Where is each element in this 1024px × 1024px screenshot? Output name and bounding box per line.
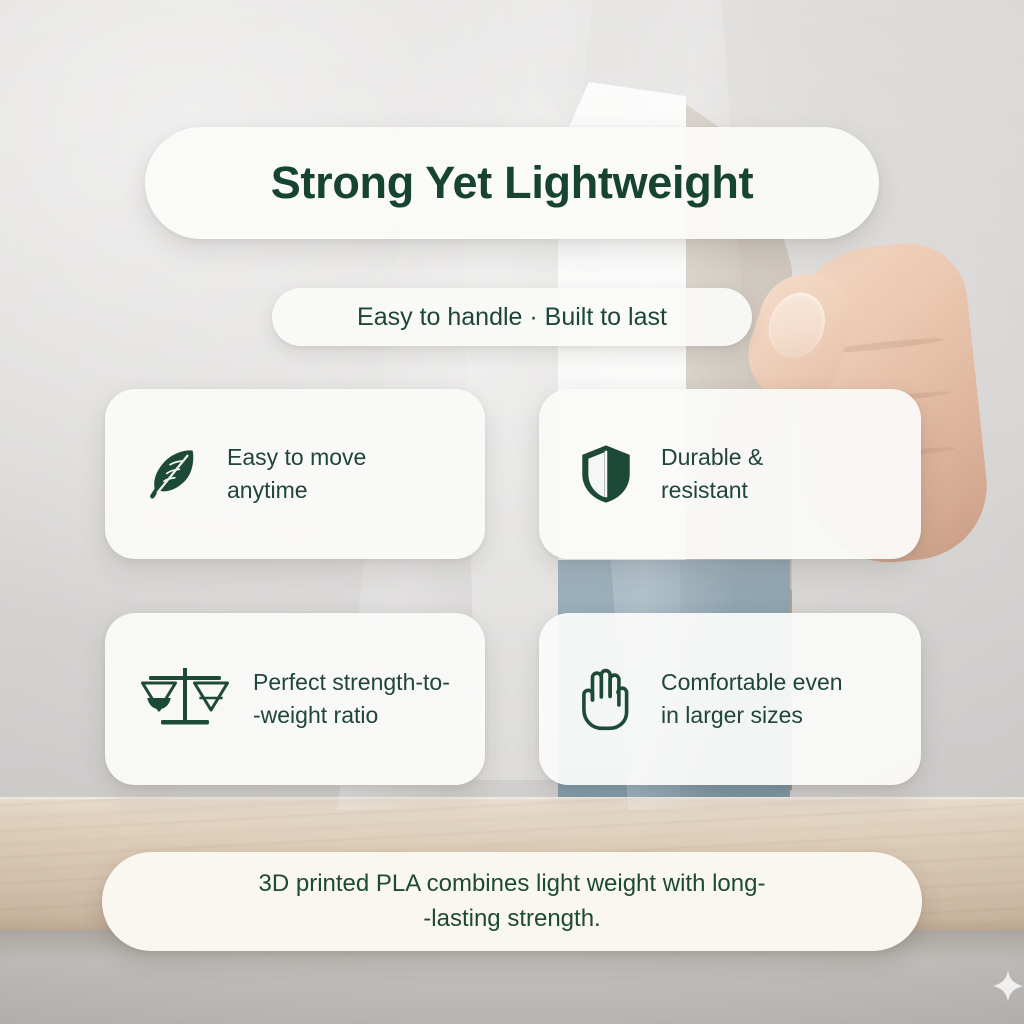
feature-card-easy-to-move[interactable]: Easy to move anytime xyxy=(105,389,485,559)
feature-label-line2: -weight ratio xyxy=(253,702,378,728)
shield-icon xyxy=(573,441,639,507)
feature-label: Easy to move anytime xyxy=(227,441,366,506)
feature-label-line1: Easy to move xyxy=(227,444,366,470)
feature-card-durable[interactable]: Durable & resistant xyxy=(539,389,921,559)
feature-label-line1: Perfect strength-to- xyxy=(253,669,450,695)
footer-pill: 3D printed PLA combines light weight wit… xyxy=(102,852,922,951)
balance-scale-icon xyxy=(139,666,231,732)
footer-line1: 3D printed PLA combines light weight wit… xyxy=(259,870,766,897)
page-subtitle: Easy to handle · Built to last xyxy=(357,303,667,332)
feature-label-line2: resistant xyxy=(661,477,748,503)
feature-label-line1: Comfortable even xyxy=(661,669,843,695)
subtitle-pill: Easy to handle · Built to last xyxy=(272,288,752,346)
title-pill: Strong Yet Lightweight xyxy=(145,127,879,239)
hand-icon xyxy=(573,666,639,732)
footer-description: 3D printed PLA combines light weight wit… xyxy=(259,867,766,935)
feature-label: Perfect strength-to- -weight ratio xyxy=(253,666,450,731)
feature-label-line2: in larger sizes xyxy=(661,702,803,728)
feature-card-comfortable[interactable]: Comfortable even in larger sizes xyxy=(539,613,921,785)
feature-label: Comfortable even in larger sizes xyxy=(661,666,843,731)
feature-label-line2: anytime xyxy=(227,477,308,503)
feature-card-strength-to-weight[interactable]: Perfect strength-to- -weight ratio xyxy=(105,613,485,785)
footer-line2: -lasting strength. xyxy=(423,905,600,932)
feather-icon xyxy=(139,441,205,507)
feature-label: Durable & resistant xyxy=(661,441,763,506)
page-title: Strong Yet Lightweight xyxy=(271,157,754,209)
sparkle-icon xyxy=(993,970,1023,1002)
feature-label-line1: Durable & xyxy=(661,444,763,470)
product-feature-graphic: Strong Yet Lightweight Easy to handle · … xyxy=(0,0,1024,1024)
